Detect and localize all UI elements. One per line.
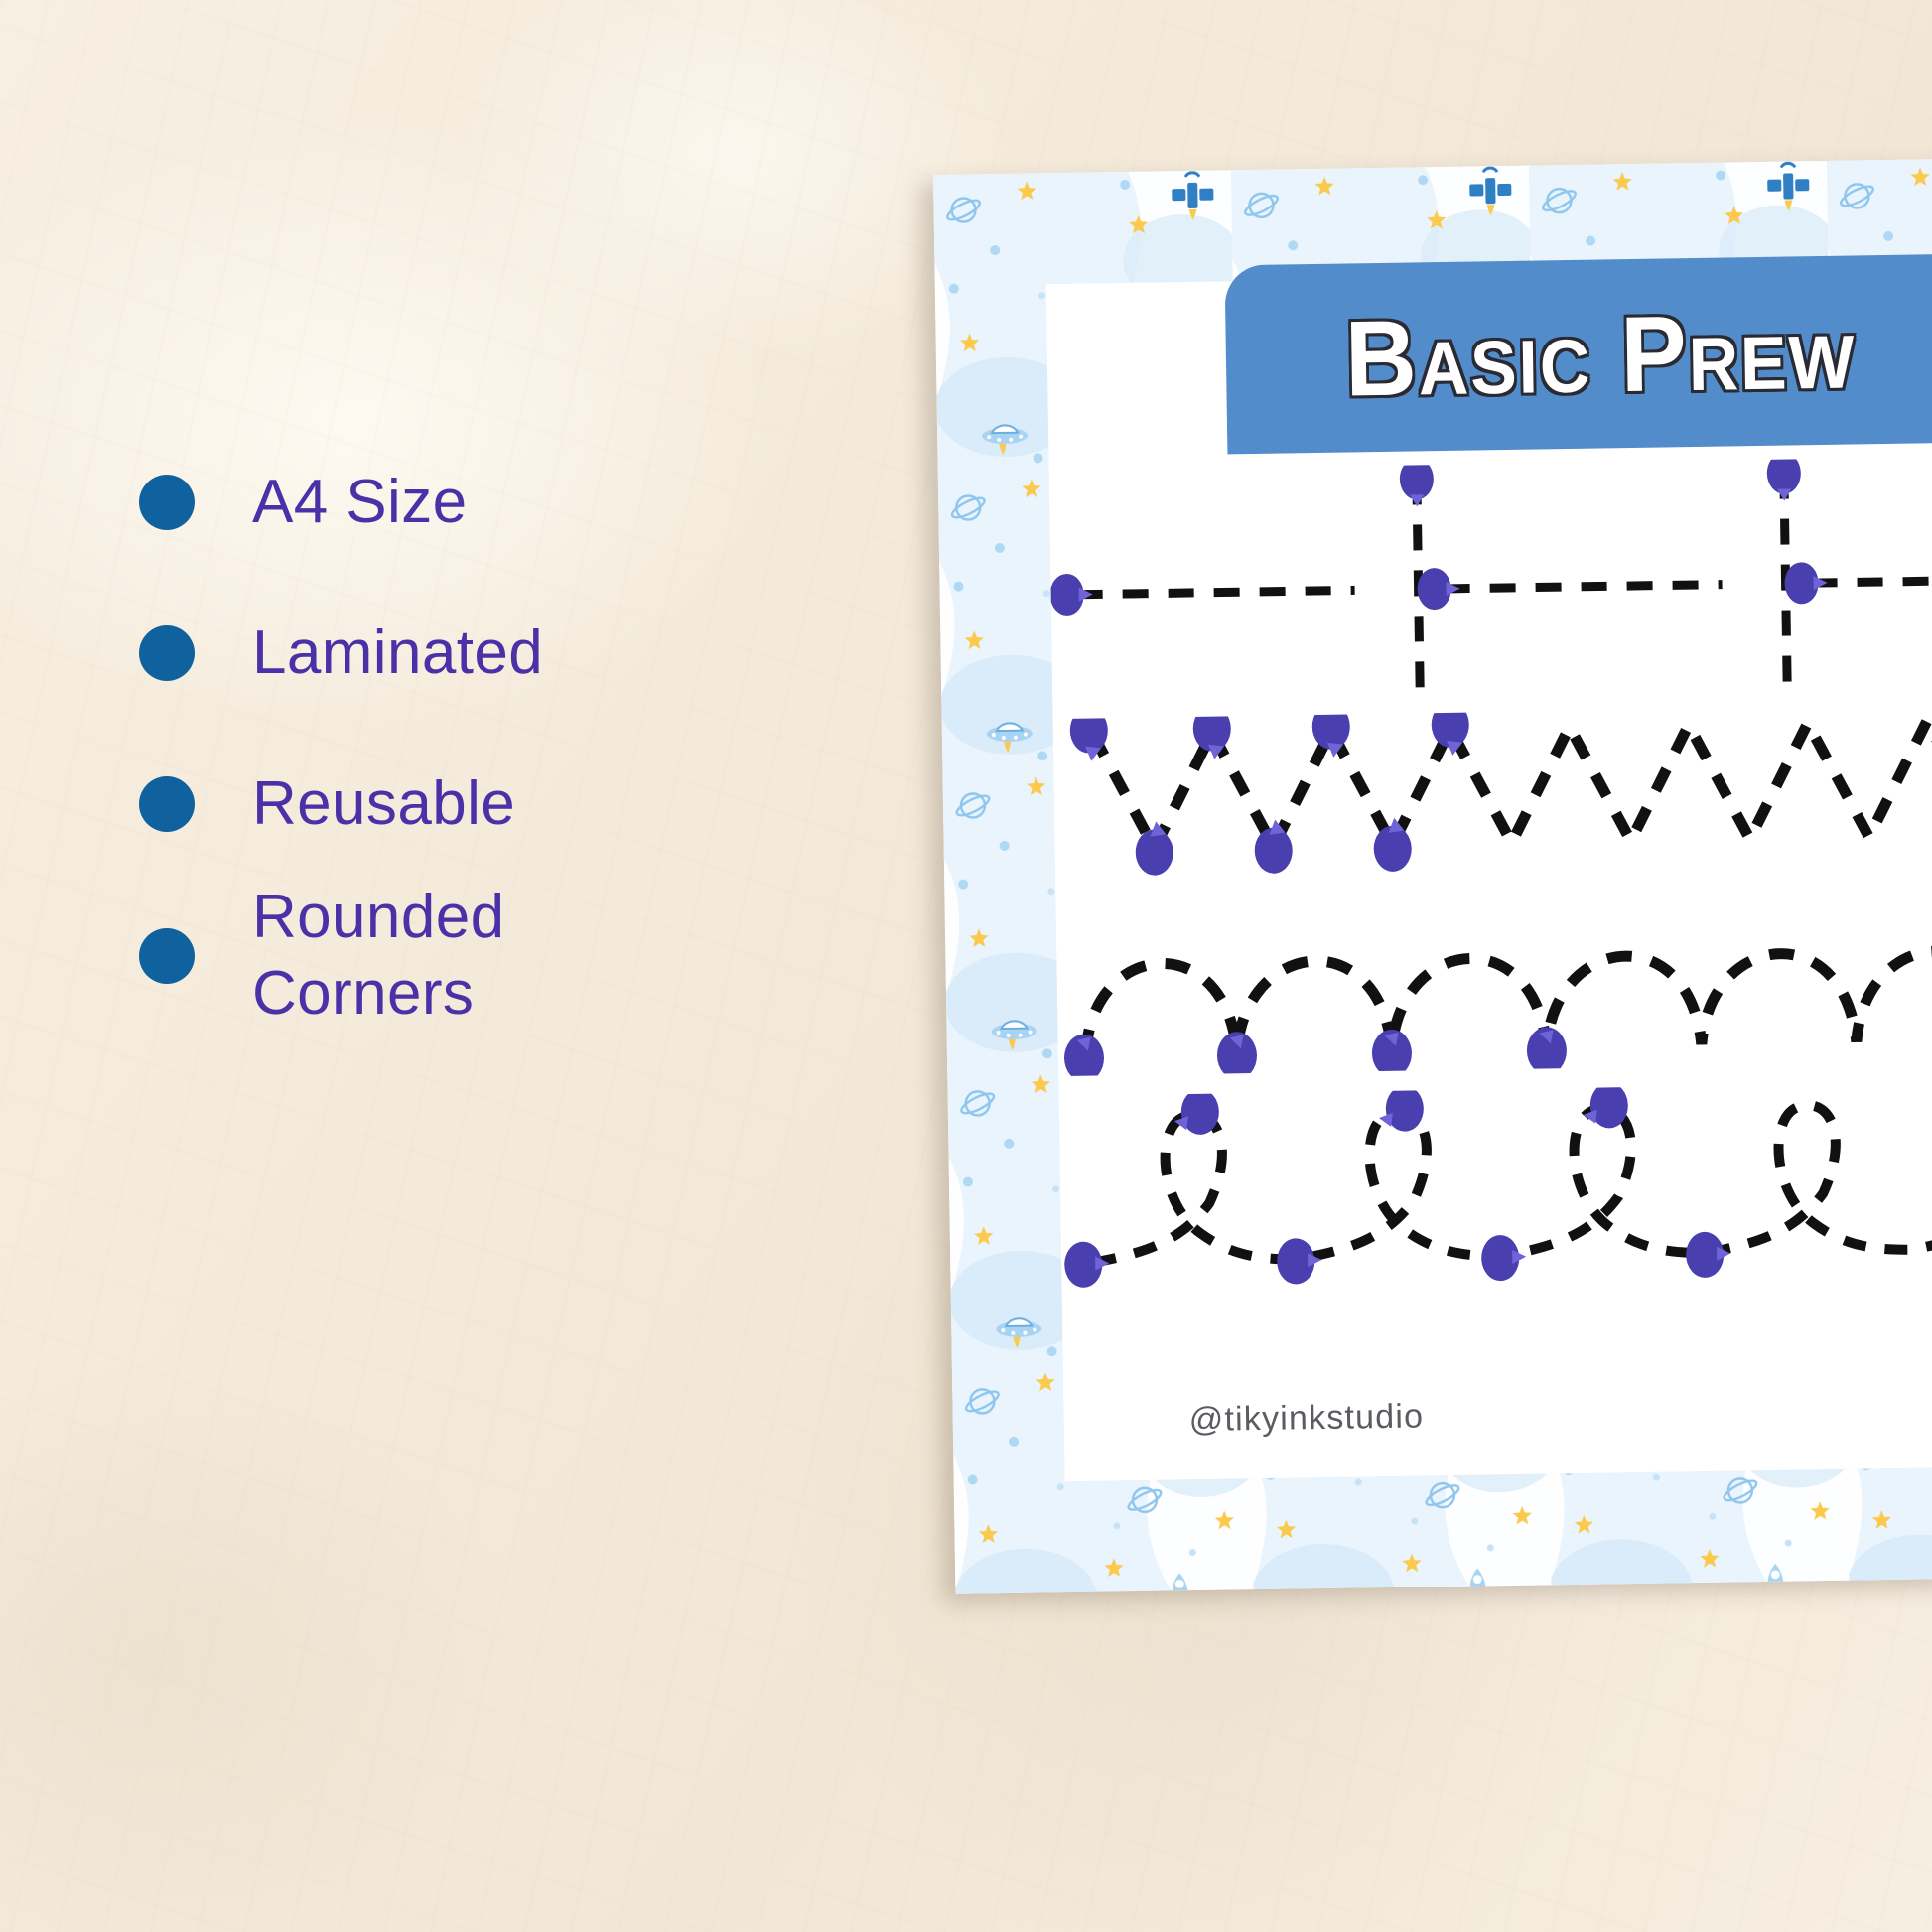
space-pattern-icon bbox=[933, 173, 1066, 1594]
feature-label: Rounded Corners bbox=[252, 880, 504, 1033]
trace-row-straight-lines bbox=[1049, 454, 1932, 699]
straight-lines-graphic bbox=[1049, 454, 1932, 699]
zigzag-graphic bbox=[1053, 702, 1932, 878]
loops-graphic bbox=[1059, 1079, 1932, 1295]
tracing-exercise-area bbox=[1049, 454, 1932, 1473]
feature-item-reusable: Reusable bbox=[139, 729, 755, 880]
space-pattern-border-bottom bbox=[954, 1464, 1932, 1594]
bullet-dot-icon bbox=[139, 928, 195, 984]
page-title: Basic Prew bbox=[1344, 288, 1857, 420]
watermark: @tikyinkstudio bbox=[1188, 1397, 1424, 1440]
trace-row-loops bbox=[1059, 1079, 1932, 1295]
space-pattern-icon bbox=[954, 1464, 1932, 1594]
bullet-dot-icon bbox=[139, 475, 195, 530]
feature-label: Laminated bbox=[252, 616, 543, 692]
worksheet-title-banner: Basic Prew bbox=[1224, 248, 1932, 454]
bullet-dot-icon bbox=[139, 776, 195, 832]
trace-row-arches bbox=[1056, 891, 1932, 1076]
feature-list: A4 Size Laminated Reusable Rounded Corne… bbox=[139, 427, 755, 1033]
arches-graphic bbox=[1056, 891, 1932, 1076]
feature-item-laminated: Laminated bbox=[139, 578, 755, 729]
feature-item-a4-size: A4 Size bbox=[139, 427, 755, 578]
trace-row-zigzag bbox=[1053, 702, 1932, 878]
worksheet-card: Basic Prew bbox=[933, 156, 1932, 1594]
bullet-dot-icon bbox=[139, 625, 195, 681]
feature-label: A4 Size bbox=[252, 465, 467, 541]
feature-item-rounded-corners: Rounded Corners bbox=[139, 880, 755, 1033]
feature-label: Reusable bbox=[252, 766, 515, 843]
space-pattern-border-left bbox=[933, 173, 1066, 1594]
